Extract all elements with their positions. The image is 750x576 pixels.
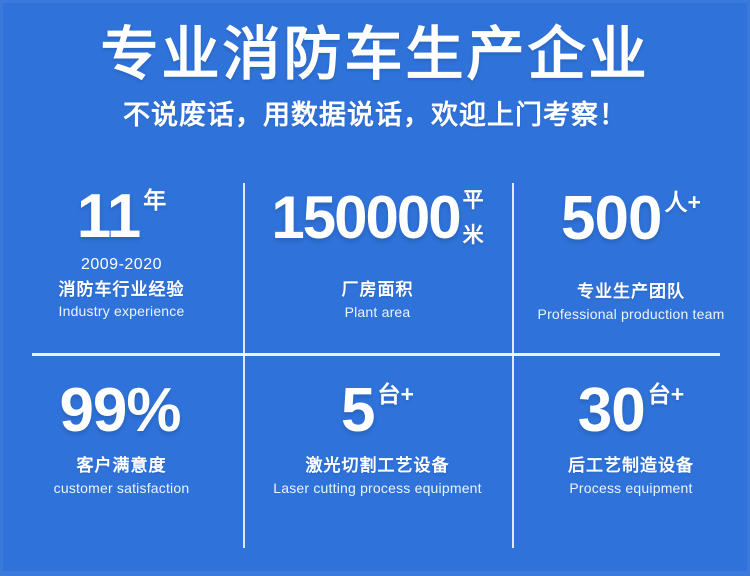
stat-cell-industry-experience: 11 年 2009-2020 消防车行业经验 Industry experien… [0,180,243,354]
stat-number-line: 11 年 [77,186,167,248]
stat-unit: 台+ [378,380,414,406]
stat-number: 500 [561,188,661,250]
stats-row-bottom: 99% 客户满意度 customer satisfaction 5 台+ 激光切… [0,372,750,546]
stat-label-cn: 厂房面积 [342,280,414,300]
stat-label-cn: 消防车行业经验 [59,280,185,300]
stat-label-cn: 激光切割工艺设备 [306,456,450,476]
stat-label-cn: 专业生产团队 [577,282,685,302]
stat-cell-process-equipment: 30 台+ 后工艺制造设备 Process equipment [512,372,750,546]
stat-number-line: 5 台+ [341,380,414,442]
promo-banner: 专业消防车生产企业 不说废话，用数据说话，欢迎上门考察！ 11 年 2009-2… [0,0,750,576]
stat-cell-customer-satisfaction: 99% 客户满意度 customer satisfaction [0,372,243,546]
stat-unit: 年 [143,186,166,212]
vertical-divider-right [512,183,514,548]
stat-number-line: 500 人+ [561,188,701,250]
stat-label-en: Professional production team [538,306,725,322]
stat-number: 11 [77,186,141,248]
banner-header: 专业消防车生产企业 不说废话，用数据说话，欢迎上门考察！ [0,24,750,132]
stat-label-cn: 客户满意度 [77,456,167,476]
stat-number-line: 99% [59,380,183,442]
stat-label-en: Industry experience [59,303,185,319]
stat-label-en: Plant area [345,304,411,320]
vertical-divider-left [243,183,245,548]
stat-label-en: Process equipment [569,480,692,496]
stat-unit-line-2: 米 [463,225,484,246]
horizontal-divider [32,353,720,356]
stats-row-top: 11 年 2009-2020 消防车行业经验 Industry experien… [0,180,750,354]
stat-cell-plant-area: 150000 平 米 厂房面积 Plant area [243,180,512,354]
stat-number-line: 150000 平 米 [271,188,483,248]
stat-number-line: 30 台+ [578,380,684,442]
headline: 专业消防车生产企业 [0,24,750,85]
stat-number: 99% [59,380,180,442]
stat-year-range: 2009-2020 [81,256,162,274]
stat-cell-production-team: 500 人+ 专业生产团队 Professional production te… [512,180,750,354]
stat-label-cn: 后工艺制造设备 [568,456,694,476]
stat-number: 30 [578,380,645,442]
stats-grid: 11 年 2009-2020 消防车行业经验 Industry experien… [0,180,750,552]
stat-number: 150000 [271,188,459,248]
stat-unit: 人+ [665,188,701,214]
stat-unit: 平 米 [463,188,484,248]
stat-label-en: customer satisfaction [54,480,190,496]
stat-unit: 台+ [648,380,684,406]
subheadline: 不说废话，用数据说话，欢迎上门考察！ [0,99,750,131]
stat-number: 5 [341,380,374,442]
stat-unit-line-1: 平 [463,190,484,211]
stat-label-en: Laser cutting process equipment [273,480,482,496]
stat-cell-laser-cutting-equipment: 5 台+ 激光切割工艺设备 Laser cutting process equi… [243,372,512,546]
